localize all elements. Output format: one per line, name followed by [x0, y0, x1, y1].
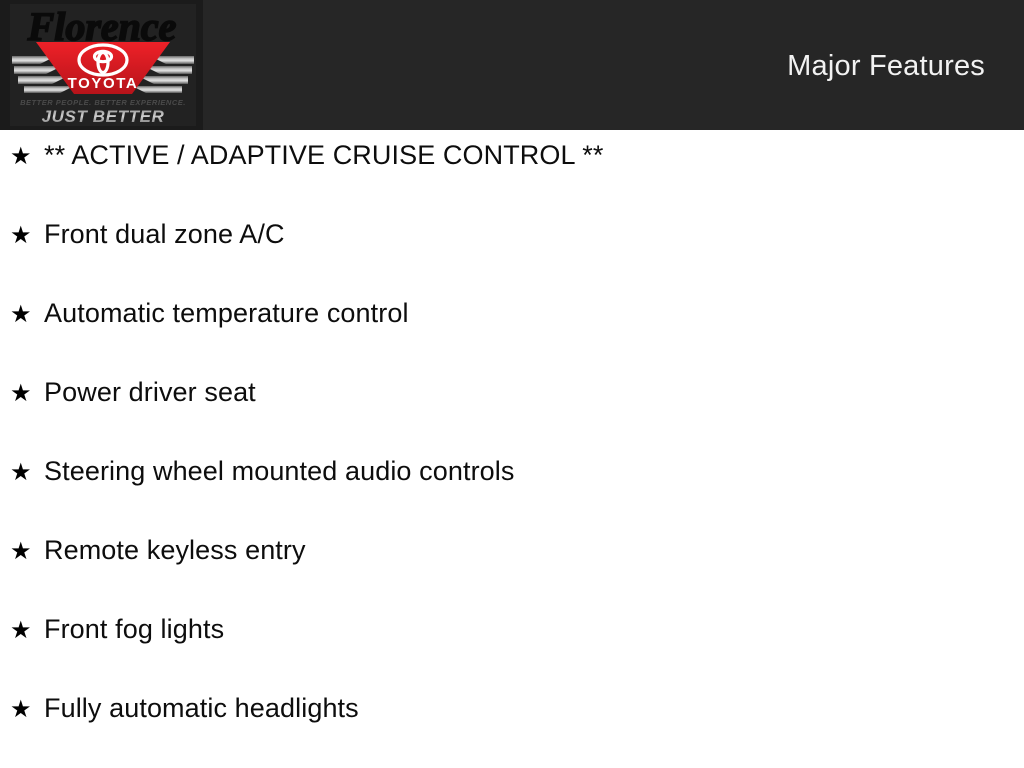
- list-item: ★ Front dual zone A/C: [0, 221, 1024, 300]
- dealer-logo-panel: TOYOTA Florence BETTER PEOPLE. BETTER EX…: [10, 4, 196, 126]
- page-title: Major Features: [787, 50, 985, 83]
- list-item-label: Remote keyless entry: [44, 537, 306, 564]
- list-item-label: Front fog lights: [44, 616, 224, 643]
- list-item-label: Power driver seat: [44, 379, 256, 406]
- list-item-label: Steering wheel mounted audio controls: [44, 458, 515, 485]
- star-bullet-icon: ★: [10, 145, 44, 169]
- star-bullet-icon: ★: [10, 382, 44, 406]
- dealer-logo[interactable]: TOYOTA Florence BETTER PEOPLE. BETTER EX…: [0, 0, 203, 130]
- list-item: ★ Fully automatic headlights: [0, 695, 1024, 768]
- star-bullet-icon: ★: [10, 224, 44, 248]
- svg-text:BETTER PEOPLE. BETTER EXPERIEN: BETTER PEOPLE. BETTER EXPERIENCE.: [20, 98, 186, 107]
- florence-toyota-logo-icon: TOYOTA Florence BETTER PEOPLE. BETTER EX…: [10, 4, 196, 126]
- svg-text:JUST BETTER: JUST BETTER: [42, 107, 165, 126]
- list-item: ★ Steering wheel mounted audio controls: [0, 458, 1024, 537]
- page-root: TOYOTA Florence BETTER PEOPLE. BETTER EX…: [0, 0, 1024, 768]
- list-item: ★ ** ACTIVE / ADAPTIVE CRUISE CONTROL **: [0, 142, 1024, 221]
- list-item-label: ** ACTIVE / ADAPTIVE CRUISE CONTROL **: [44, 142, 603, 169]
- list-item: ★ Remote keyless entry: [0, 537, 1024, 616]
- list-item: ★ Automatic temperature control: [0, 300, 1024, 379]
- list-item-label: Front dual zone A/C: [44, 221, 285, 248]
- list-item-label: Automatic temperature control: [44, 300, 409, 327]
- list-item-label: Fully automatic headlights: [44, 695, 359, 722]
- major-features-list: ★ ** ACTIVE / ADAPTIVE CRUISE CONTROL **…: [0, 130, 1024, 768]
- star-bullet-icon: ★: [10, 698, 44, 722]
- svg-text:Florence: Florence: [27, 4, 177, 49]
- svg-text:TOYOTA: TOYOTA: [68, 75, 139, 92]
- page-header: TOYOTA Florence BETTER PEOPLE. BETTER EX…: [0, 0, 1024, 130]
- list-item: ★ Front fog lights: [0, 616, 1024, 695]
- star-bullet-icon: ★: [10, 540, 44, 564]
- star-bullet-icon: ★: [10, 461, 44, 485]
- star-bullet-icon: ★: [10, 303, 44, 327]
- star-bullet-icon: ★: [10, 619, 44, 643]
- list-item: ★ Power driver seat: [0, 379, 1024, 458]
